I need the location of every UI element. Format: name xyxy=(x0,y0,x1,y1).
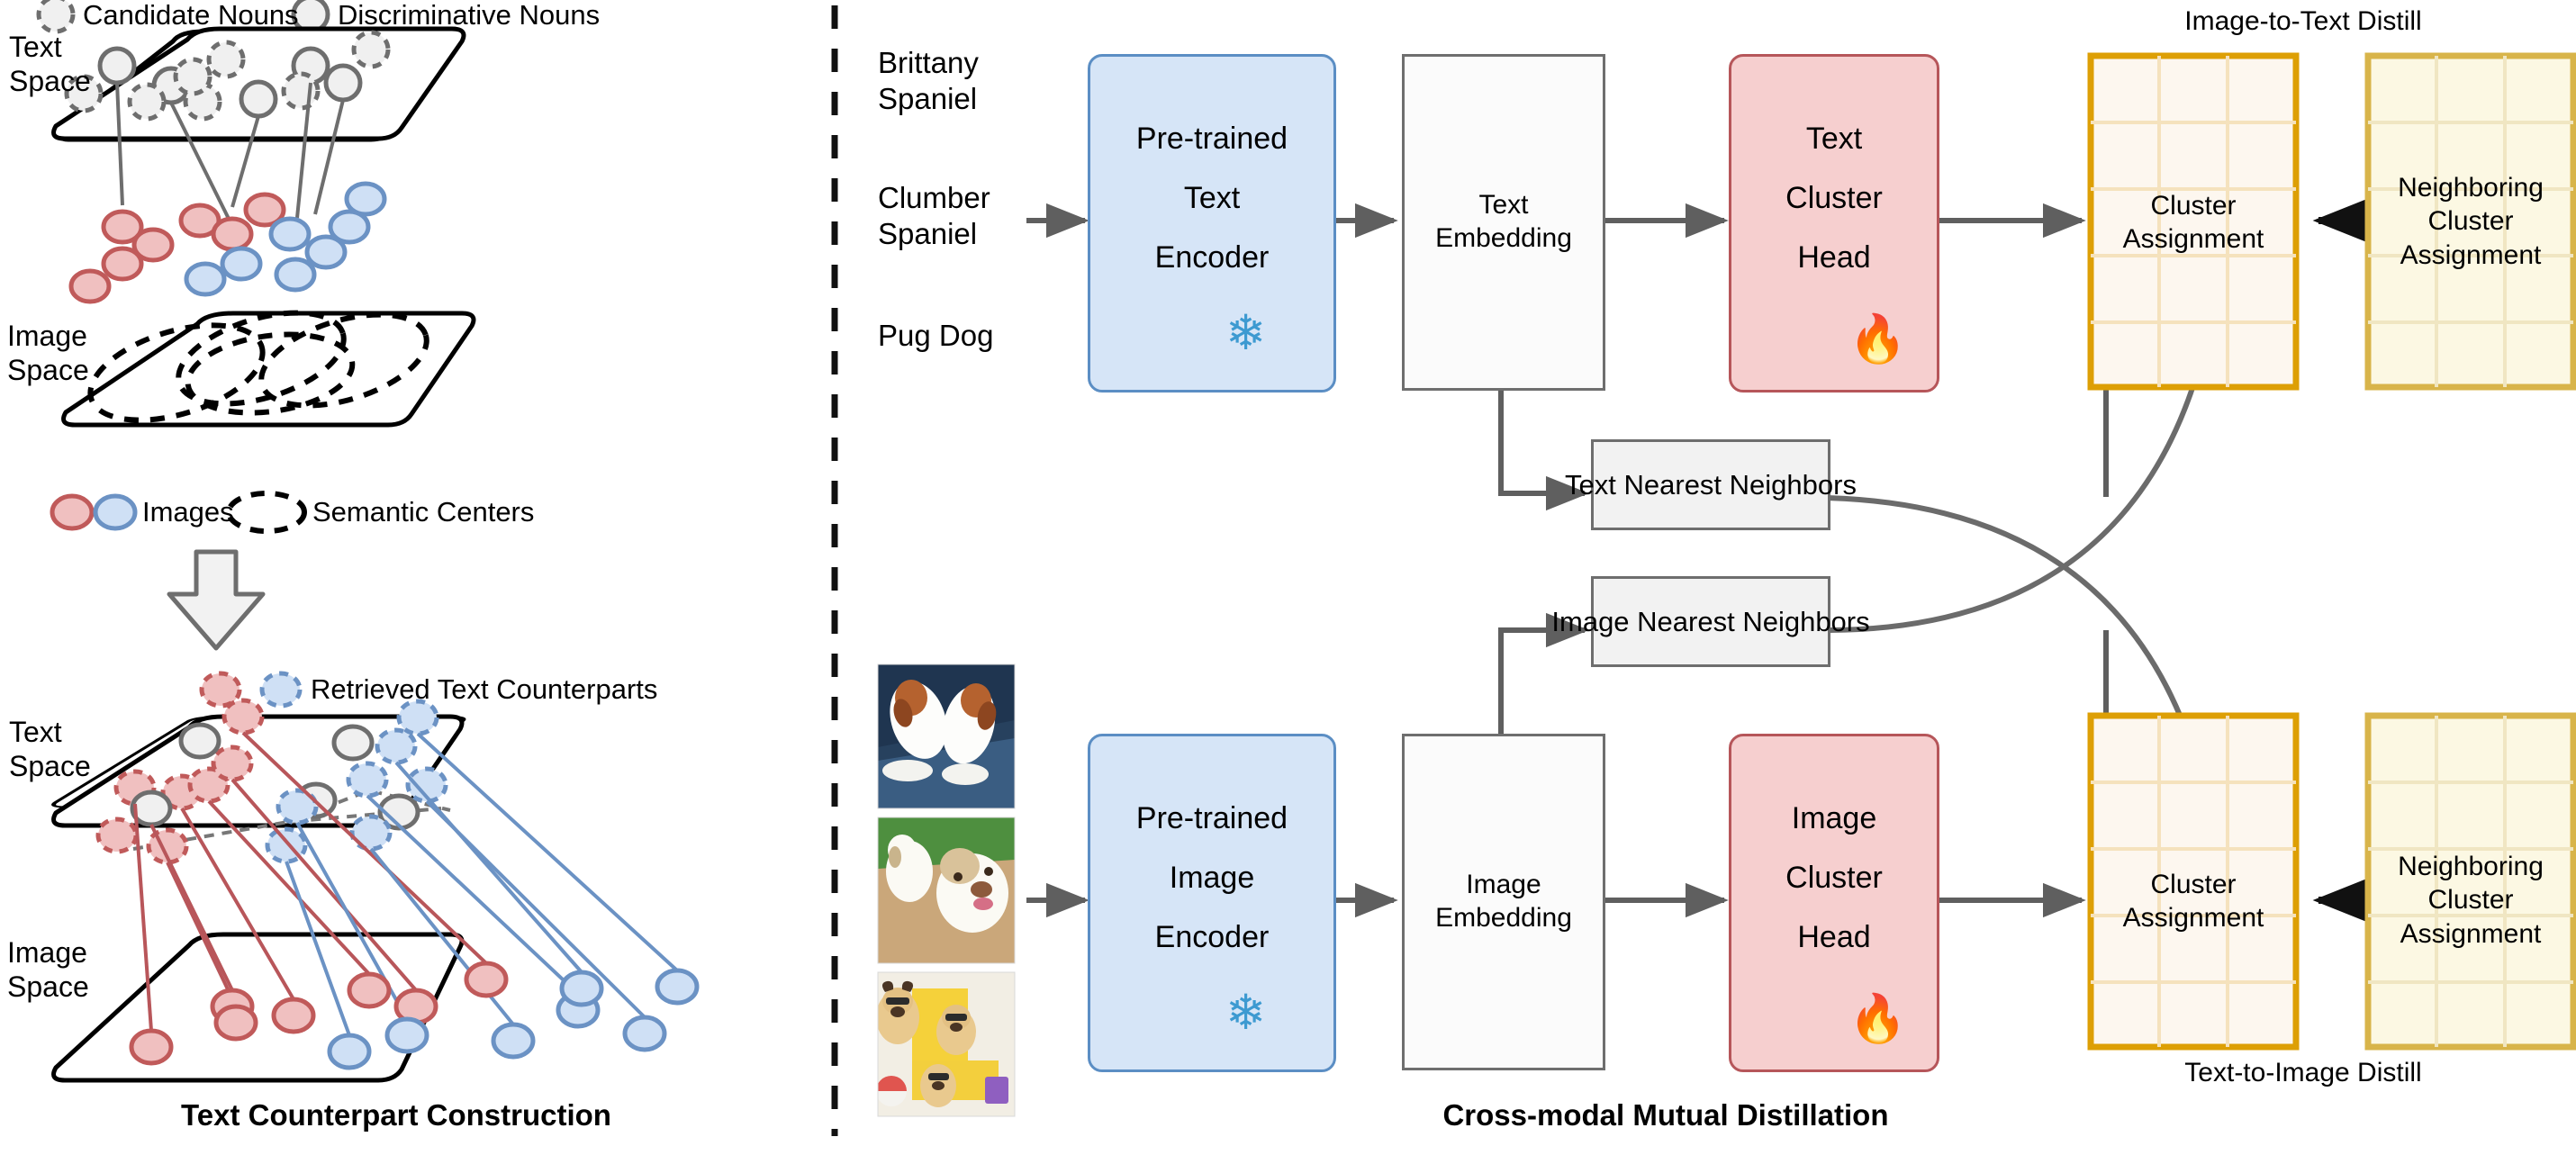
text-input-line: Pug Dog xyxy=(878,319,993,352)
plane-label-line2: Space xyxy=(9,750,91,782)
cluster-assignment-line1: Cluster xyxy=(2150,191,2236,221)
neighboring-line2: Cluster xyxy=(2427,206,2513,236)
plane-label-line2: Space xyxy=(7,354,89,386)
legend-images-marker xyxy=(52,496,135,528)
transition-down-arrow xyxy=(169,552,263,648)
head-label-line1: Image xyxy=(1792,801,1877,835)
text-input-pug-dog: Pug Dog xyxy=(878,318,1058,354)
neighboring-line2: Cluster xyxy=(2427,885,2513,915)
image-neighboring-cluster-assignment-label: Neighboring Cluster Assignment xyxy=(2368,823,2573,978)
neighboring-line1: Neighboring xyxy=(2398,173,2544,203)
head-label-line2: Cluster xyxy=(1785,181,1883,215)
embedding-label-line2: Embedding xyxy=(1435,903,1572,933)
text-input-line: Spaniel xyxy=(878,217,977,250)
plane-label-image-space-top: Image Space xyxy=(7,320,133,388)
plane-label-line2: Space xyxy=(7,970,89,1003)
snowflake-icon: ❄ xyxy=(1225,988,1266,1037)
top-image-space-nodes xyxy=(71,184,384,302)
plane-label-line1: Image xyxy=(7,320,87,352)
cluster-assignment-line2: Assignment xyxy=(2123,903,2264,933)
thumb-brittany-spaniels xyxy=(878,664,1015,808)
encoder-label-line3: Encoder xyxy=(1155,920,1270,954)
plane-label-line2: Space xyxy=(9,65,91,97)
legend-label-images: Images xyxy=(142,497,304,528)
left-panel-title: Text Counterpart Construction xyxy=(45,1096,747,1134)
plane-label-image-space-bottom: Image Space xyxy=(7,936,133,1005)
encoder-label-line2: Image xyxy=(1170,861,1255,895)
embedding-label-line1: Text xyxy=(1478,190,1528,220)
image-nearest-neighbors-box[interactable]: Image Nearest Neighbors xyxy=(1591,576,1830,667)
plane-label-text-space-bottom: Text Space xyxy=(9,716,117,784)
legend-label-semantic-centers: Semantic Centers xyxy=(312,497,691,528)
pretrained-text-encoder[interactable]: Pre-trained Text Encoder ❄ xyxy=(1088,54,1336,393)
neighbor-to-cluster-arrows xyxy=(2318,221,2364,900)
snowflake-icon: ❄ xyxy=(1225,309,1266,357)
legend-candidate-nouns-marker xyxy=(39,0,73,32)
text-input-line: Spaniel xyxy=(878,82,977,115)
head-label-line3: Head xyxy=(1797,240,1870,275)
embedding-label-line1: Image xyxy=(1466,870,1541,899)
pretrained-image-encoder[interactable]: Pre-trained Image Encoder ❄ xyxy=(1088,734,1336,1072)
image-embedding-box: Image Embedding xyxy=(1402,734,1605,1070)
plane-label-text-space-top: Text Space xyxy=(9,31,117,99)
neighboring-line3: Assignment xyxy=(2400,919,2542,949)
text-nearest-neighbors-box[interactable]: Text Nearest Neighbors xyxy=(1591,439,1830,530)
encoder-label-line3: Encoder xyxy=(1155,240,1270,275)
cluster-assignment-line1: Cluster xyxy=(2150,870,2236,899)
encoder-label-line1: Pre-trained xyxy=(1136,801,1288,835)
image-cluster-assignment-label: Cluster Assignment xyxy=(2091,852,2296,951)
plane-label-line1: Image xyxy=(7,936,87,969)
text-cluster-head[interactable]: Text Cluster Head 🔥 xyxy=(1729,54,1939,393)
embedding-label-line2: Embedding xyxy=(1435,223,1572,253)
text-input-brittany-spaniel: Brittany Spaniel xyxy=(878,45,1058,116)
neighboring-line1: Neighboring xyxy=(2398,852,2544,881)
plane-label-line1: Text xyxy=(9,716,62,748)
head-label-line3: Head xyxy=(1797,920,1870,954)
text-neighboring-cluster-assignment-label: Neighboring Cluster Assignment xyxy=(2368,144,2573,299)
text-input-line: Clumber xyxy=(878,181,990,214)
text-embedding-box: Text Embedding xyxy=(1402,54,1605,391)
text-input-clumber-spaniel: Clumber Spaniel xyxy=(878,180,1058,251)
neighboring-line3: Assignment xyxy=(2400,240,2542,270)
image-to-text-distill-label: Image-to-Text Distill xyxy=(2078,4,2528,40)
legend-label-discriminative-nouns: Discriminative Nouns xyxy=(338,0,698,31)
thumb-pug-dogs xyxy=(876,972,1015,1116)
text-to-image-distill-label: Text-to-Image Distill xyxy=(2078,1055,2528,1091)
head-label-line1: Text xyxy=(1806,122,1862,156)
cluster-assignment-line2: Assignment xyxy=(2123,224,2264,254)
legend-label-retrieved-text-counterparts: Retrieved Text Counterparts xyxy=(311,674,815,705)
head-label-line2: Cluster xyxy=(1785,861,1883,895)
plane-label-line1: Text xyxy=(9,31,62,63)
legend-label-candidate-nouns: Candidate Nouns xyxy=(83,0,353,31)
text-cluster-assignment-label: Cluster Assignment xyxy=(2091,173,2296,272)
fire-icon: 🔥 xyxy=(1848,316,1907,363)
encoder-label-line2: Text xyxy=(1184,181,1240,215)
encoder-label-line1: Pre-trained xyxy=(1136,122,1288,156)
right-panel-title: Cross-modal Mutual Distillation xyxy=(1216,1096,2116,1134)
fire-icon: 🔥 xyxy=(1848,996,1907,1042)
text-input-line: Brittany xyxy=(878,46,979,79)
image-cluster-head[interactable]: Image Cluster Head 🔥 xyxy=(1729,734,1939,1072)
thumb-clumber-spaniels xyxy=(878,817,1015,963)
